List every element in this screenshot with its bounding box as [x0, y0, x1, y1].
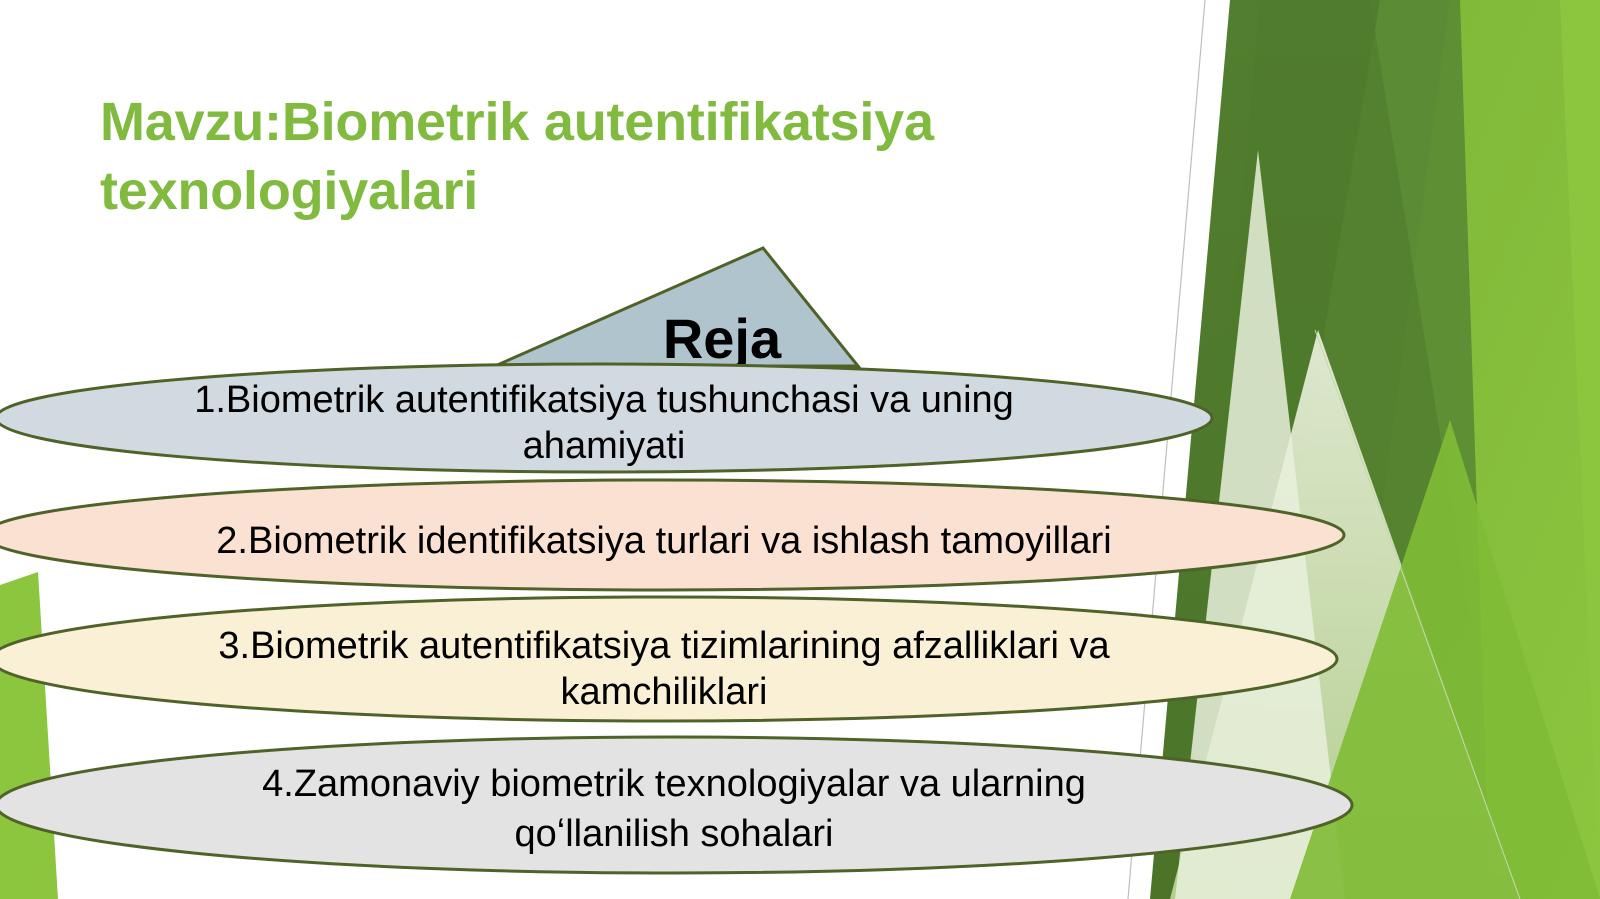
list-item-4-line2: qoʻllanilish sohalari	[515, 813, 834, 855]
list-item-3-line1: 3.Biometrik autentifikatsiya tizimlarini…	[218, 625, 1110, 667]
list-item-3-line2: kamchiliklari	[561, 671, 768, 713]
reja-diagram: Reja 1.Biometrik autentifikatsiya tushun…	[0, 0, 1600, 899]
list-item-1-line1: 1.Biometrik autentifikatsiya tushunchasi…	[194, 379, 1014, 421]
list-item-2[interactable]: 2.Biometrik identifikatsiya turlari va i…	[0, 480, 1344, 590]
list-item-1-line2: ahamiyati	[523, 425, 686, 467]
list-item-1[interactable]: 1.Biometrik autentifikatsiya tushunchasi…	[0, 364, 1212, 472]
reja-label: Reja	[663, 307, 782, 370]
presentation-slide: Mavzu:Biometrik autentifikatsiya texnolo…	[0, 0, 1600, 899]
list-item-3[interactable]: 3.Biometrik autentifikatsiya tizimlarini…	[0, 597, 1337, 721]
list-item-4[interactable]: 4.Zamonaviy biometrik texnologiyalar va …	[0, 737, 1352, 873]
list-item-2-line1: 2.Biometrik identifikatsiya turlari va i…	[216, 520, 1111, 562]
list-item-4-line1: 4.Zamonaviy biometrik texnologiyalar va …	[262, 763, 1086, 805]
reja-triangle-shape[interactable]: Reja	[495, 248, 858, 370]
